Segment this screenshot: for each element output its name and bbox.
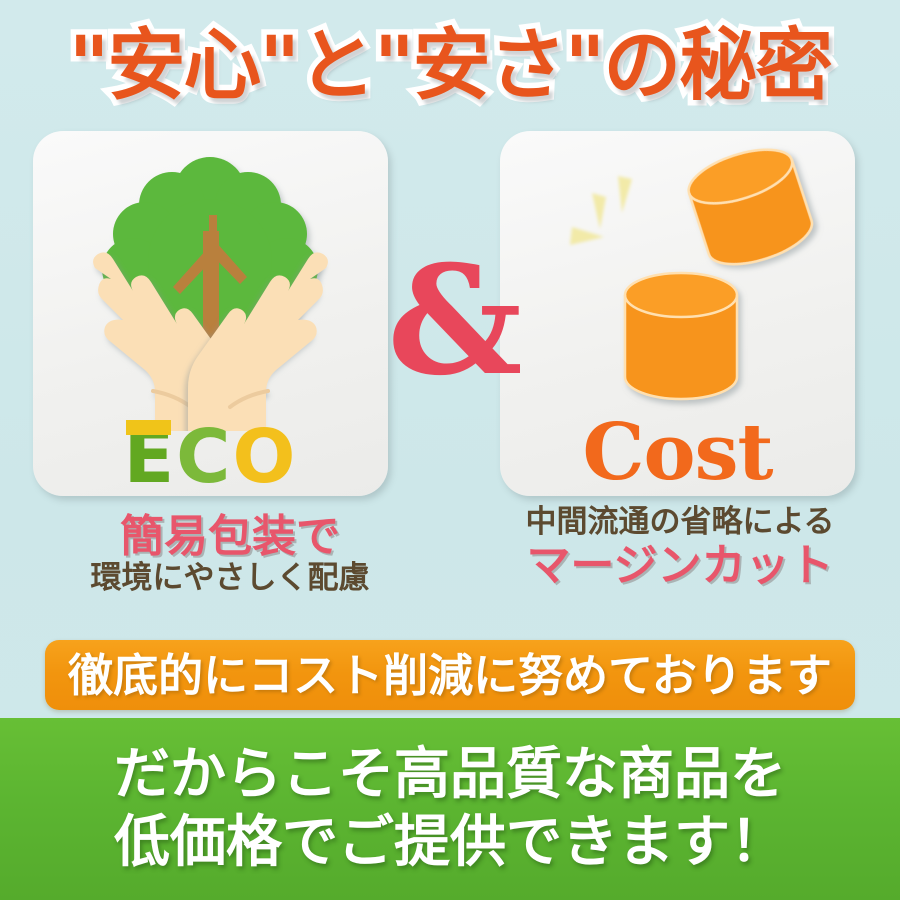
sparkle-icon <box>570 176 632 245</box>
eco-caption: 簡易包装で 環境にやさしく配慮 <box>20 512 440 597</box>
banner-text: 徹底的にコスト削減に努めております <box>68 653 832 698</box>
footer-line-2: 低価格でご提供できます！ <box>114 809 786 877</box>
cost-caption-line2: マージンカット <box>470 541 890 590</box>
cost-caption: 中間流通の省略による マージンカット <box>470 505 890 590</box>
coin-cylinder-icon <box>500 131 855 431</box>
page-title: "安心"と"安さ"の秘密 <box>0 16 900 116</box>
eco-letter-c: C <box>176 414 232 500</box>
footer-line-1: だからこそ高品質な商品を <box>114 741 786 809</box>
coin-stack-icon <box>625 273 737 399</box>
eco-logo-text: ECO <box>33 420 388 494</box>
hands-holding-tree-icon <box>33 131 388 431</box>
cost-reduction-banner: 徹底的にコスト削減に努めております <box>45 640 855 710</box>
eco-letter-o: O <box>232 414 297 500</box>
ampersand-separator: & <box>390 246 520 396</box>
eco-caption-suffix: で <box>296 511 340 562</box>
cost-logo-text: Cost <box>500 414 855 492</box>
eco-caption-line2: 環境にやさしく配慮 <box>20 561 440 597</box>
eco-letter-e: E <box>124 414 177 500</box>
eco-caption-line1: 簡易包装で <box>20 512 440 561</box>
cost-caption-line1: 中間流通の省略による <box>470 505 890 541</box>
footer-message: だからこそ高品質な商品を 低価格でご提供できます！ <box>0 718 900 900</box>
eco-caption-main: 簡易包装 <box>120 511 296 562</box>
promo-poster: "安心"と"安さ"の秘密 <box>0 0 900 900</box>
cost-card: Cost <box>500 131 855 496</box>
eco-card: ECO <box>33 131 388 496</box>
